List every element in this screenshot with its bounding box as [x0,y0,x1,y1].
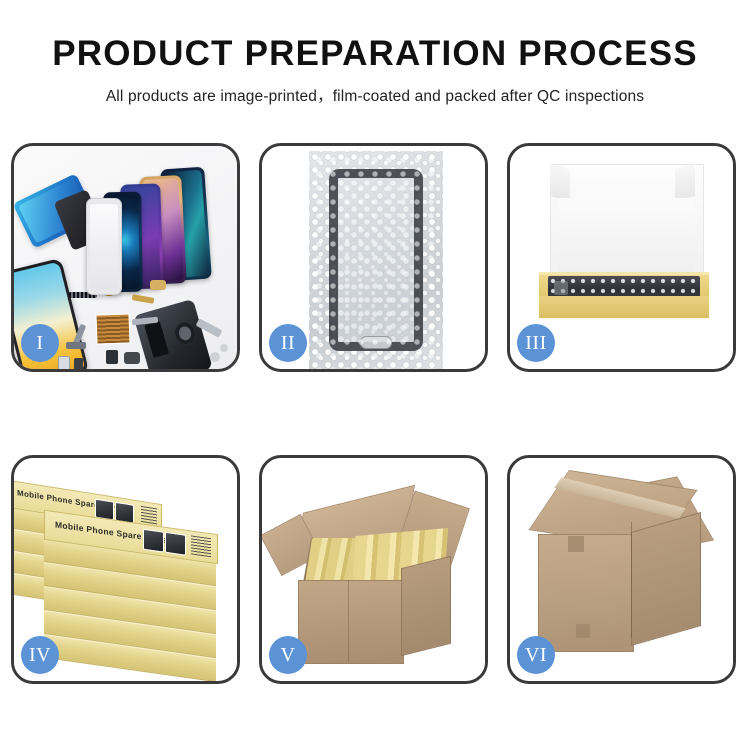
box-screen-graphic [143,529,164,553]
page-header: PRODUCT PREPARATION PROCESS All products… [0,0,750,106]
box-screen-graphic [165,532,186,556]
step-panel-3[interactable]: III [507,143,736,372]
sim-tray-part [58,356,70,369]
step-badge-6: VI [517,636,555,674]
step-panel-4[interactable]: Mobile Phone Spare Parts Mobile Phone Sp… [11,455,240,684]
step-panel-1[interactable]: I [11,143,240,372]
box-left-flap [550,164,570,201]
step-panel-2[interactable]: II [259,143,488,372]
step-panel-6[interactable]: VI [507,455,736,684]
step-badge-1: I [21,324,59,362]
connector-part [66,342,86,349]
box-tray-front [539,296,709,318]
carton-flap-notch [576,624,590,638]
box-spec-lines [191,535,211,557]
camera-module-part [106,350,118,364]
phone-screen-1 [86,198,122,295]
flex-cable-part [132,294,155,304]
carton-front-face [298,580,404,664]
carton-flap-notch [568,536,584,552]
page-title: PRODUCT PREPARATION PROCESS [0,0,750,73]
step-badge-2: II [269,324,307,362]
carton-seam-line [348,580,349,662]
carton-side-face [401,556,451,656]
vibrator-motor-part [74,358,83,369]
page-subtitle: All products are image-printed，film-coat… [0,73,750,106]
gold-contact-part [150,280,166,290]
box-spec-lines [141,506,157,526]
box-right-flap [675,164,695,201]
step-badge-5: V [269,636,307,674]
box-interior [558,198,694,278]
carton-corner-edge [631,522,632,638]
process-steps-grid: I II III [11,143,739,684]
carton-side-face [631,512,701,646]
speaker-part [124,352,140,364]
phone-logic-board [133,299,212,369]
copper-mesh-part [95,313,130,344]
bubble-wrap-sheet [309,151,443,369]
step-panel-5[interactable]: V [259,455,488,684]
screw-part [210,352,220,362]
phone-screen-glass [329,169,423,351]
step-badge-3: III [517,324,555,362]
screw-part [220,344,228,352]
step-badge-4: IV [21,636,59,674]
